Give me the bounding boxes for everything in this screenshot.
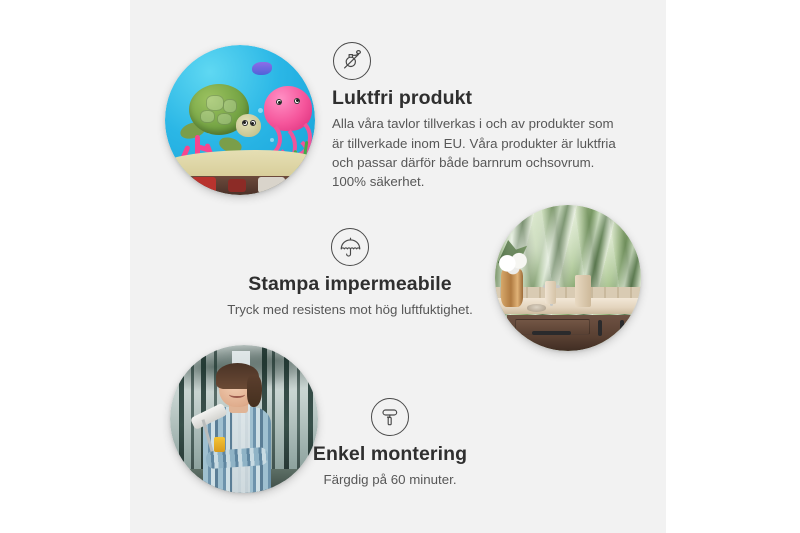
feature-title: Luktfri produkt [332,87,622,109]
no-odor-spray-bottle-icon [333,42,371,80]
feature-body: Alla våra tavlor tillverkas i och av pro… [332,114,622,191]
feature-odorless: Luktfri produkt Alla våra tavlor tillver… [332,42,622,191]
feature-body: Färgdig på 60 minuter. [290,470,490,489]
paint-roller-icon [371,398,409,436]
feature-body: Tryck med resistens mot hög luftfuktighe… [205,300,495,319]
screenshot-canvas: Luktfri produkt Alla våra tavlor tillver… [0,0,800,533]
feature-title: Stampa impermeabile [205,273,495,295]
underwater-cartoon-circle-image [165,45,315,195]
feature-title: Enkel montering [290,443,490,465]
bathroom-wallpaper-circle-image [495,205,641,351]
feature-mounting: Enkel montering Färgdig på 60 minuter. [290,398,490,490]
feature-waterproof: Stampa impermeabile Tryck med resistens … [205,228,495,320]
umbrella-icon [331,228,369,266]
